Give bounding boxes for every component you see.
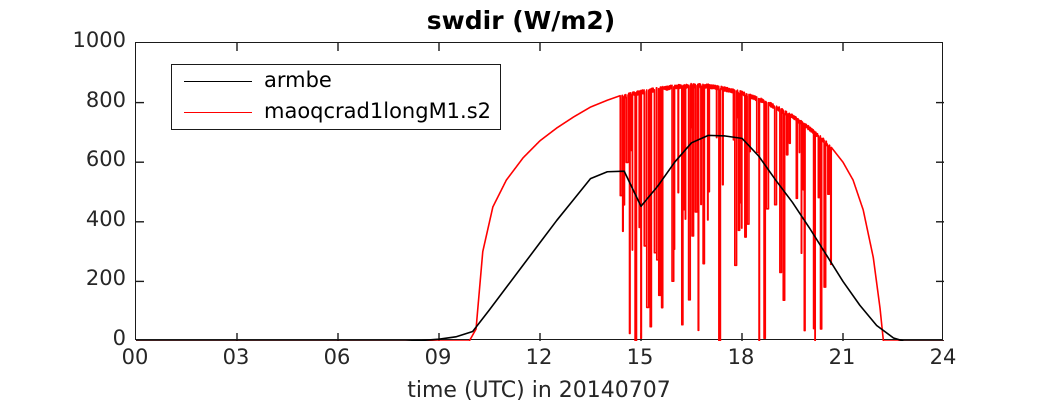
y-tick-label: 1000: [0, 28, 126, 52]
x-tick-label: 15: [605, 345, 675, 369]
legend-swatch-maoqcrad1longM1-s2: [184, 112, 252, 113]
x-tick-label: 09: [403, 345, 473, 369]
x-axis-label: time (UTC) in 20140707: [135, 378, 943, 403]
x-tick-label: 03: [201, 345, 271, 369]
y-tick-label: 800: [0, 88, 126, 112]
legend-label-maoqcrad1longM1-s2: maoqcrad1longM1.s2: [264, 99, 491, 123]
x-tick-label: 00: [100, 345, 170, 369]
y-tick-label: 200: [0, 266, 126, 290]
legend-entry-armbe[interactable]: armbe: [172, 65, 500, 98]
legend-entry-maoqcrad1longM1-s2[interactable]: maoqcrad1longM1.s2: [172, 96, 500, 129]
figure-canvas: swdir (W/m2) 02004006008001000 000306091…: [0, 0, 1042, 417]
y-tick-label: 600: [0, 147, 126, 171]
legend: armbe maoqcrad1longM1.s2: [171, 64, 501, 130]
series-line-armbe: [136, 135, 944, 341]
legend-swatch-armbe: [184, 81, 252, 82]
x-tick-label: 21: [807, 345, 877, 369]
x-tick-label: 06: [302, 345, 372, 369]
legend-label-armbe: armbe: [264, 68, 332, 92]
y-tick-label: 400: [0, 207, 126, 231]
x-tick-label: 24: [908, 345, 978, 369]
x-tick-label: 18: [706, 345, 776, 369]
page-title: swdir (W/m2): [0, 6, 1042, 35]
x-tick-label: 12: [504, 345, 574, 369]
